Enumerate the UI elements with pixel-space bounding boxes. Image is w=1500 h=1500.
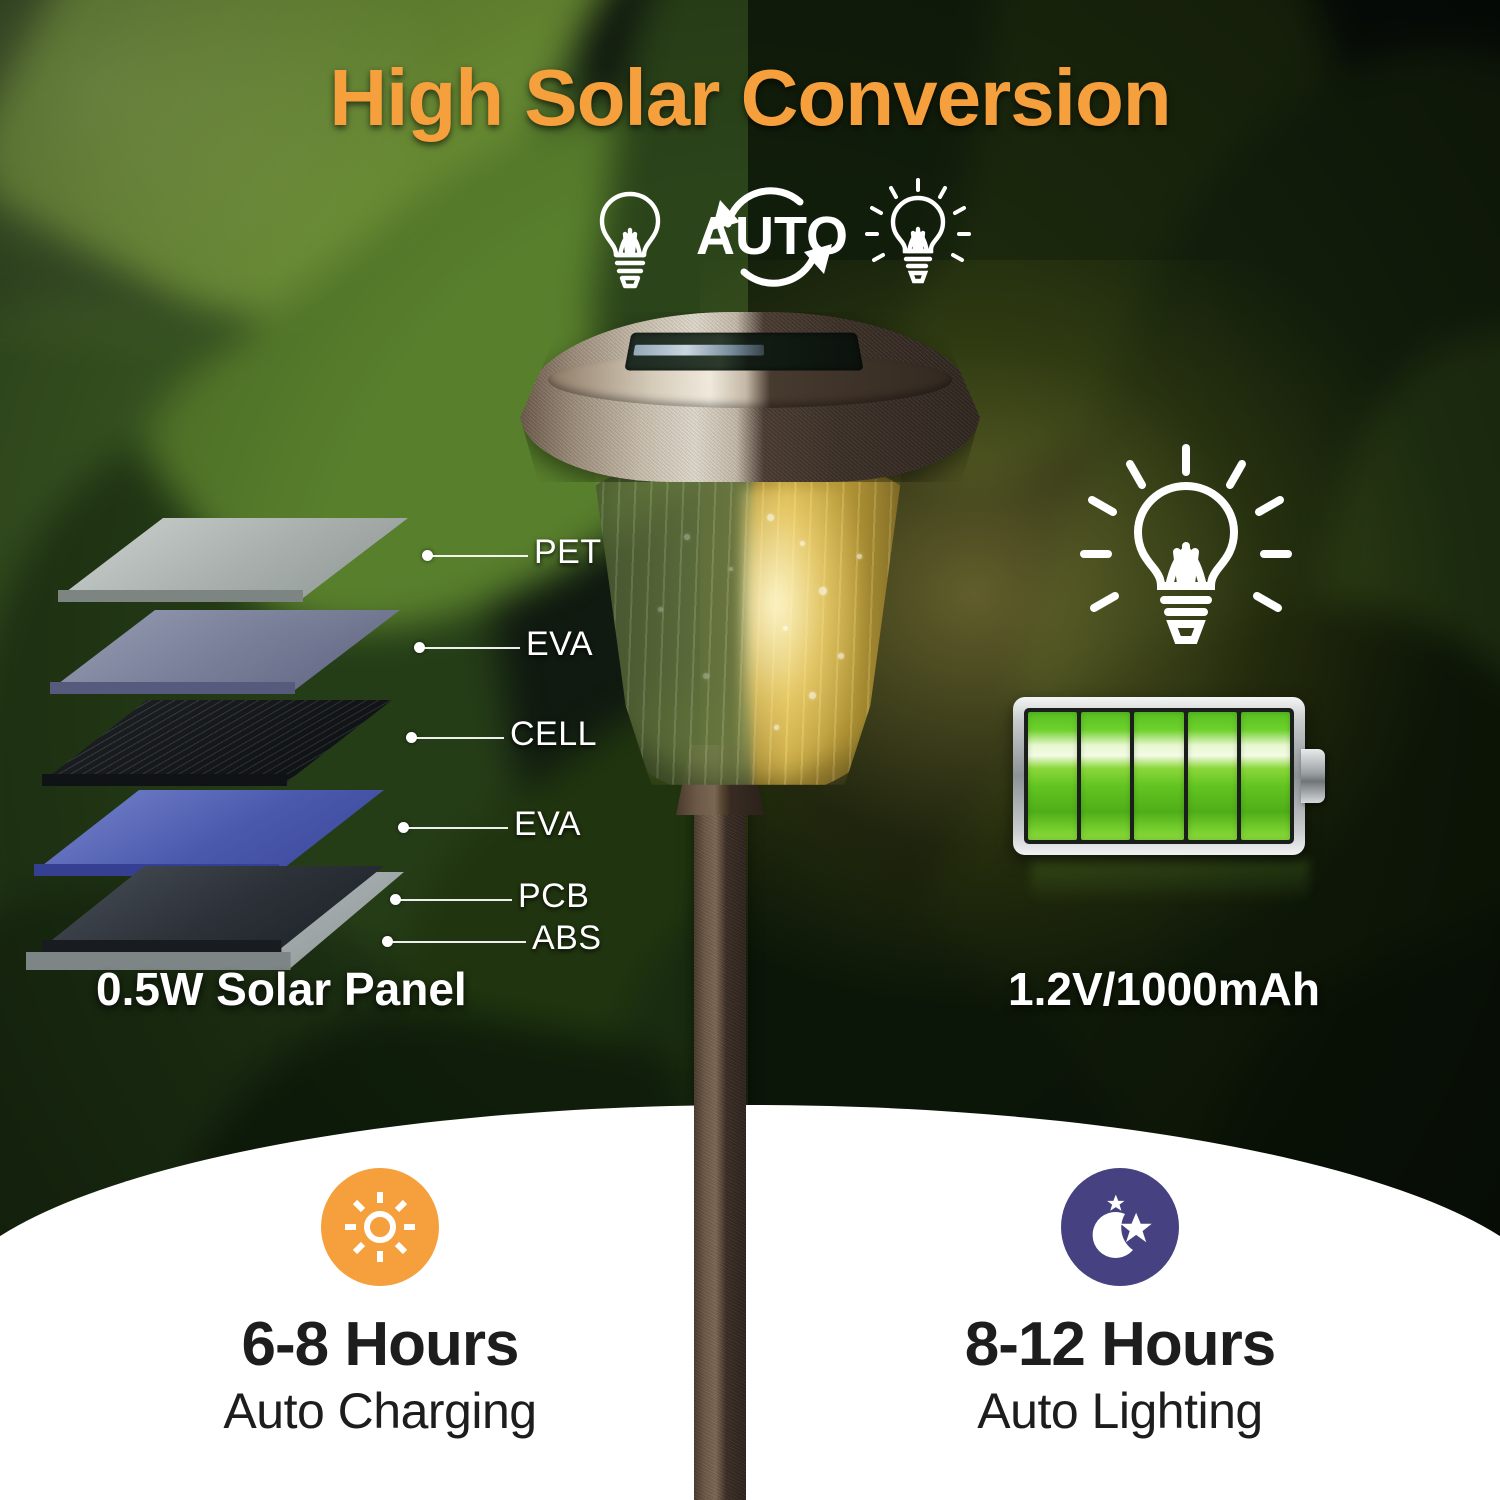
battery-indicator	[1013, 697, 1325, 855]
feature-title: 6-8 Hours	[120, 1312, 640, 1378]
layer-pet	[58, 518, 408, 598]
battery-cell	[1241, 712, 1290, 840]
lamp-pole-foreground	[694, 1105, 746, 1500]
layer-eva-bottom	[34, 790, 384, 872]
layer-cell	[42, 700, 392, 782]
leader-line-abs	[392, 941, 526, 943]
auto-label: AUTO	[696, 206, 848, 266]
battery-cell	[1188, 712, 1237, 840]
layer-pcb	[42, 866, 384, 948]
moon-stars-icon	[1081, 1188, 1159, 1266]
feature-subtitle: Auto Charging	[120, 1382, 640, 1440]
battery-caption: 1.2V/1000mAh	[1008, 962, 1320, 1016]
light-bulb-on-icon	[1078, 442, 1294, 654]
leader-line-eva-top	[424, 647, 520, 649]
layer-label-pcb: PCB	[518, 877, 589, 916]
page-title: High Solar Conversion	[0, 52, 1500, 144]
battery-cell	[1081, 712, 1130, 840]
layer-label-cell: CELL	[510, 715, 597, 754]
bulb-off-icon	[584, 184, 676, 292]
moon-icon-badge	[1061, 1168, 1179, 1286]
auto-mode-row: AUTO	[576, 178, 976, 296]
leader-line-pet	[432, 555, 528, 557]
feature-auto-charging: 6-8 Hours Auto Charging	[120, 1168, 640, 1440]
solar-panel-layer-diagram: PET EVA CELL EVA PCB ABS	[40, 500, 680, 920]
layer-label-eva-bottom: EVA	[514, 805, 581, 844]
layer-label-eva-top: EVA	[526, 625, 593, 664]
sun-icon	[342, 1189, 418, 1265]
battery-cell	[1134, 712, 1183, 840]
leader-line-eva-bottom	[408, 827, 508, 829]
bulb-on-icon	[864, 176, 972, 296]
battery-reflection	[1031, 859, 1309, 903]
sun-icon-badge	[321, 1168, 439, 1286]
feature-subtitle: Auto Lighting	[860, 1382, 1380, 1440]
layer-label-abs: ABS	[532, 919, 602, 958]
feature-auto-lighting: 8-12 Hours Auto Lighting	[860, 1168, 1380, 1440]
leader-line-pcb	[400, 899, 512, 901]
layer-eva-top	[50, 610, 400, 690]
leader-line-cell	[416, 737, 504, 739]
infographic-canvas: High Solar Conversion AUTO	[0, 0, 1500, 1500]
battery-terminal	[1301, 749, 1325, 803]
battery-cells	[1024, 708, 1294, 844]
layer-label-pet: PET	[534, 533, 602, 572]
battery-body	[1013, 697, 1305, 855]
feature-title: 8-12 Hours	[860, 1312, 1380, 1378]
auto-cycle-icon: AUTO	[696, 178, 848, 296]
battery-cell	[1028, 712, 1077, 840]
solar-panel-caption: 0.5W Solar Panel	[96, 962, 467, 1016]
